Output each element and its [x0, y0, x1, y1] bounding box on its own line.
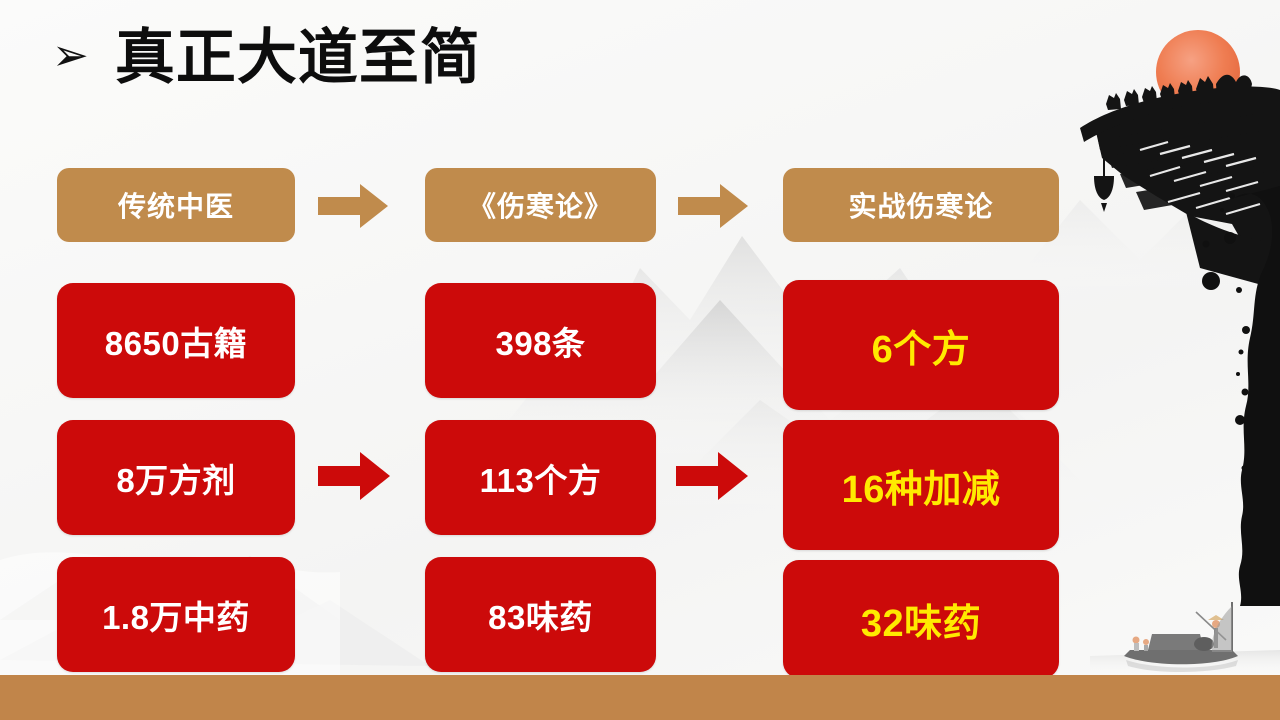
cell-r1-c3[interactable]: 6个方 [783, 280, 1059, 410]
river-boat-scene [1090, 602, 1280, 676]
page-title: ➢ 真正大道至简 [52, 26, 481, 89]
slide-canvas: ➢ 真正大道至简 传统中医 《伤寒论》 实战伤寒论 8650古籍 398条 6个… [0, 0, 1280, 720]
cell-r1-c1[interactable]: 8650古籍 [57, 283, 295, 398]
cell-r3-c2[interactable]: 83味药 [425, 557, 656, 672]
sun-disc [1156, 30, 1240, 114]
cell-r3-c1-label: 1.8万中药 [102, 591, 250, 639]
header-box-shanghanlun[interactable]: 《伤寒论》 [425, 168, 656, 242]
cell-r3-c3[interactable]: 32味药 [783, 560, 1059, 678]
roof-bell [1094, 150, 1114, 212]
header-arrow-2-icon [678, 184, 748, 228]
cell-r1-c1-label: 8650古籍 [105, 317, 247, 365]
row-arrow-2-icon [676, 452, 748, 500]
cell-r2-c2-label: 113个方 [480, 454, 602, 502]
cell-r3-c3-label: 32味药 [861, 592, 981, 647]
cell-r2-c1[interactable]: 8万方剂 [57, 420, 295, 535]
row-arrow-1-icon [318, 452, 390, 500]
cell-r3-c1[interactable]: 1.8万中药 [57, 557, 295, 672]
roof-ridge-figurines [1106, 75, 1252, 110]
cell-r1-c2[interactable]: 398条 [425, 283, 656, 398]
temple-roof-silhouette [1080, 75, 1280, 290]
cell-r1-c3-label: 6个方 [872, 318, 971, 373]
cell-r3-c2-label: 83味药 [488, 591, 593, 639]
cell-r2-c2[interactable]: 113个方 [425, 420, 656, 535]
page-title-text: 真正大道至简 [115, 26, 481, 89]
cell-r1-c2-label: 398条 [495, 317, 585, 365]
cell-r2-c3-label: 16种加减 [842, 458, 1001, 513]
footer-bar [0, 675, 1280, 720]
header-box-traditional[interactable]: 传统中医 [57, 168, 295, 242]
header-box-practical-shanghanlun[interactable]: 实战伤寒论 [783, 168, 1059, 242]
ink-splash [1202, 186, 1280, 606]
header-arrow-1-icon [318, 184, 388, 228]
cell-r2-c3[interactable]: 16种加减 [783, 420, 1059, 550]
bullet-arrow-icon: ➢ [52, 34, 89, 78]
cell-r2-c1-label: 8万方剂 [116, 454, 235, 502]
